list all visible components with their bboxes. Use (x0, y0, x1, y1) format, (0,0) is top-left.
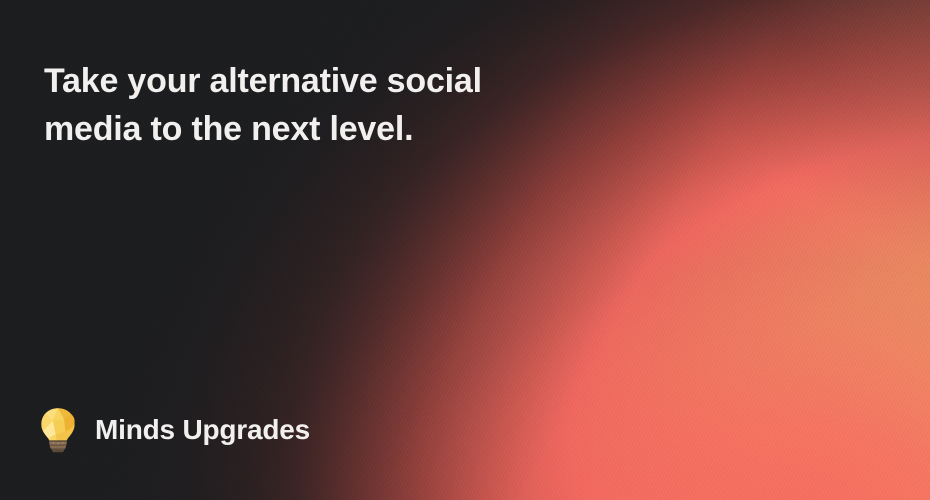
banner-content: Take your alternative social media to th… (0, 0, 930, 500)
promo-banner: Take your alternative social media to th… (0, 0, 930, 500)
brand-lockup: Minds Upgrades (38, 406, 310, 454)
headline: Take your alternative social media to th… (44, 57, 514, 153)
lightbulb-icon (38, 406, 78, 454)
brand-name: Minds Upgrades (95, 414, 310, 446)
